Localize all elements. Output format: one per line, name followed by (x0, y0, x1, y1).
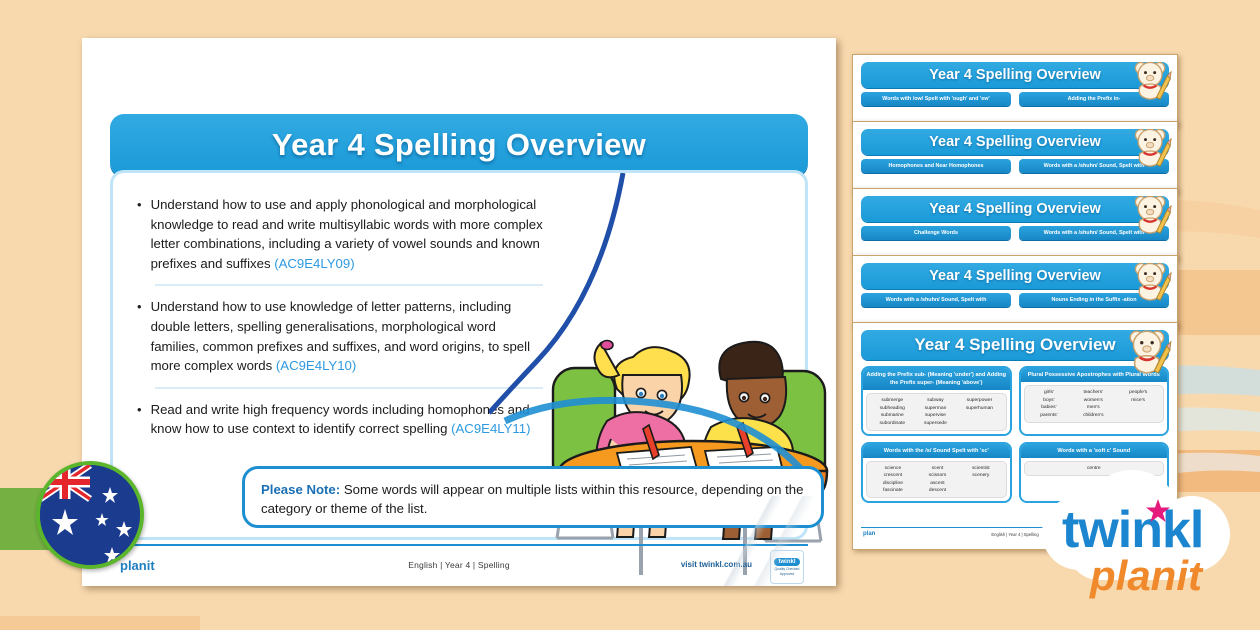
planit-wordmark: planit (1090, 552, 1202, 600)
teddy-bear-icon (1123, 325, 1173, 375)
thumbnail-title: Year 4 Spelling Overview (929, 134, 1101, 150)
bullet-glyph: • (137, 297, 142, 375)
section-pill: Homophones and Near Homophones (861, 159, 1011, 173)
word-list-words: girls' boys' babies' parents' teachers' … (1024, 385, 1165, 423)
word-column: superpower superhuman (966, 398, 993, 426)
planit-footer-logo: planit (120, 558, 155, 573)
word-list-words: science crescent discipline fascinate sc… (866, 461, 1007, 499)
breadcrumb: English | Year 4 | Spelling (408, 560, 510, 570)
thumbnail-header: Year 4 Spelling Overview (861, 129, 1169, 155)
thumbnail-title: Year 4 Spelling Overview (929, 268, 1101, 284)
twinkl-wordmark: twinkl (1062, 500, 1203, 560)
curriculum-code: (AC9E4LY10) (276, 358, 356, 373)
twinkl-planit-logo: twinkl planit (1042, 452, 1242, 612)
star-icon (1145, 498, 1171, 524)
document-footer: planit English | Year 4 | Spelling visit… (110, 544, 808, 582)
teddy-bear-icon (1129, 124, 1173, 168)
thumbnail-title: Year 4 Spelling Overview (929, 67, 1101, 83)
teddy-bear-icon (1129, 258, 1173, 302)
visit-url: visit twinkl.com.au (681, 560, 752, 569)
thumbnail-header: Year 4 Spelling Overview (861, 263, 1169, 289)
thumbnail-planit-logo: plan (863, 531, 875, 537)
word-column: science crescent discipline fascinate (883, 466, 903, 494)
please-note-callout: Please Note: Some words will appear on m… (242, 466, 824, 528)
australian-flag-icon (40, 465, 140, 565)
section-pill: Words with a /shuhn/ Sound, Spelt with (861, 293, 1011, 307)
thumbnail-page-2[interactable]: Year 4 Spelling Overview Homophones and … (852, 121, 1178, 193)
thumbnail-page-3[interactable]: Year 4 Spelling Overview Challenge Words… (852, 188, 1178, 260)
word-list-words: submerge subheading submarine subordinat… (866, 393, 1007, 431)
thumbnail-section-pills: Words with a /shuhn/ Sound, Spelt with N… (861, 293, 1169, 307)
word-column: people's mice's (1129, 390, 1147, 418)
objective-divider (155, 284, 543, 286)
thumbnail-section-pills: Homophones and Near Homophones Words wit… (861, 159, 1169, 173)
word-list-panel: Words with the /s/ Sound Spelt with 'sc'… (861, 442, 1012, 504)
section-pill: Words with /ow/ Spelt with 'ough' and 'e… (861, 92, 1011, 106)
thumbnail-title: Year 4 Spelling Overview (914, 335, 1115, 355)
objective-item: • Read and write high frequency words in… (137, 400, 543, 439)
thumbnail-page-1[interactable]: Year 4 Spelling Overview Words with /ow/… (852, 54, 1178, 126)
teddy-bear-icon (1129, 191, 1173, 235)
word-column: girls' boys' babies' parents' (1040, 390, 1057, 418)
objective-divider (155, 387, 543, 389)
main-document-preview[interactable]: Year 4 Spelling Overview • Understand ho… (82, 38, 836, 586)
thumbnail-section-pills: Challenge Words Words with a /shuhn/ Sou… (861, 226, 1169, 240)
word-list-row-1: Adding the Prefix sub- (Meaning 'under')… (861, 366, 1169, 436)
thumbnail-page-4[interactable]: Year 4 Spelling Overview Words with a /s… (852, 255, 1178, 327)
thumbnail-title: Year 4 Spelling Overview (929, 201, 1101, 217)
note-label: Please Note: (261, 482, 340, 497)
page-title: Year 4 Spelling Overview (272, 127, 646, 163)
thumbnail-header: Year 4 Spelling Overview (861, 196, 1169, 222)
thumbnail-section-pills: Words with /ow/ Spelt with 'ough' and 'e… (861, 92, 1169, 106)
thumbnail-breadcrumb: English | Year 4 | Spelling (991, 532, 1038, 537)
word-list-title: Adding the Prefix sub- (Meaning 'under')… (863, 368, 1010, 390)
twinkl-seal-badge: twinkl (774, 558, 799, 566)
thumbnail-header: Year 4 Spelling Overview (861, 62, 1169, 88)
word-list-panel: Adding the Prefix sub- (Meaning 'under')… (861, 366, 1012, 436)
objective-item: • Understand how to use and apply phonol… (137, 195, 543, 273)
bullet-glyph: • (137, 400, 142, 439)
quality-checked-seal: twinkl Quality CheckedApproved (770, 550, 804, 584)
word-column: subway superman supervise supersede (924, 398, 947, 426)
word-column: scientist scenery (972, 466, 990, 494)
seal-subtext: Quality CheckedApproved (775, 567, 800, 576)
objective-item: • Understand how to use knowledge of let… (137, 297, 543, 375)
word-column: submerge subheading submarine subordinat… (879, 398, 905, 426)
word-column: scent scissors ascent descent (929, 466, 947, 494)
word-list-panel: Plural Possessive Apostrophes with Plura… (1019, 366, 1170, 436)
word-list-title: Words with the /s/ Sound Spelt with 'sc' (863, 444, 1010, 458)
objectives-list: • Understand how to use and apply phonol… (137, 195, 543, 450)
teddy-bear-icon (1129, 57, 1173, 101)
bullet-glyph: • (137, 195, 142, 273)
document-header-banner: Year 4 Spelling Overview (110, 114, 808, 176)
note-text: Some words will appear on multiple lists… (261, 482, 803, 516)
australian-flag-badge (36, 461, 144, 569)
section-pill: Challenge Words (861, 226, 1011, 240)
curriculum-code: (AC9E4LY09) (274, 256, 354, 271)
word-column: teachers' women's men's children's (1083, 390, 1104, 418)
